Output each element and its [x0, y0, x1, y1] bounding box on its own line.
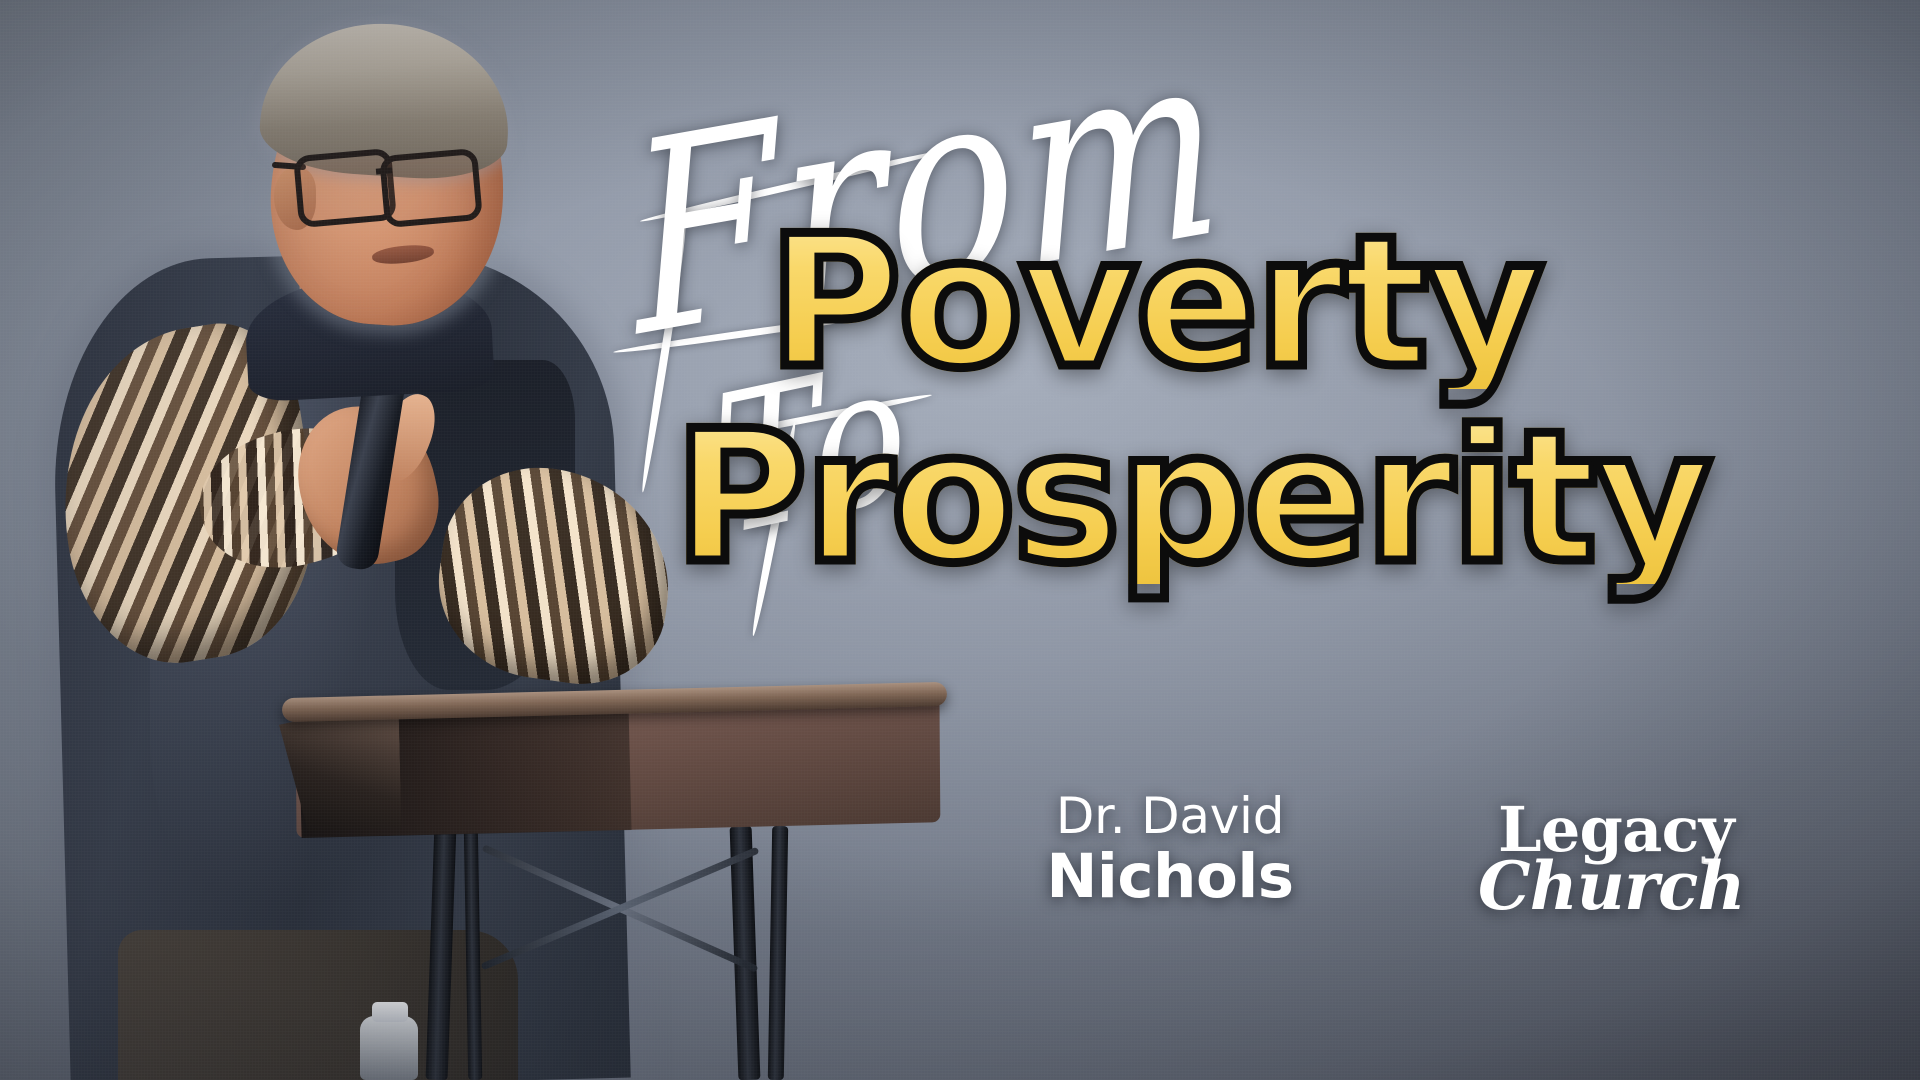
speaker-last-name: Nichols — [960, 845, 1380, 910]
sermon-title: Poverty Prosperity — [760, 216, 1920, 584]
logo-word-church: Church — [1478, 854, 1738, 919]
speaker-name-block: Dr. David Nichols — [960, 790, 1380, 910]
title-line-poverty: Poverty — [768, 216, 1920, 389]
legacy-church-logo: Legacy Church — [1478, 800, 1738, 918]
speaker-first-line: Dr. David — [960, 790, 1380, 843]
title-line-prosperity: Prosperity — [674, 411, 1920, 584]
sermon-title-card: From To Poverty Prosperity Dr. David Nic… — [0, 0, 1920, 1080]
